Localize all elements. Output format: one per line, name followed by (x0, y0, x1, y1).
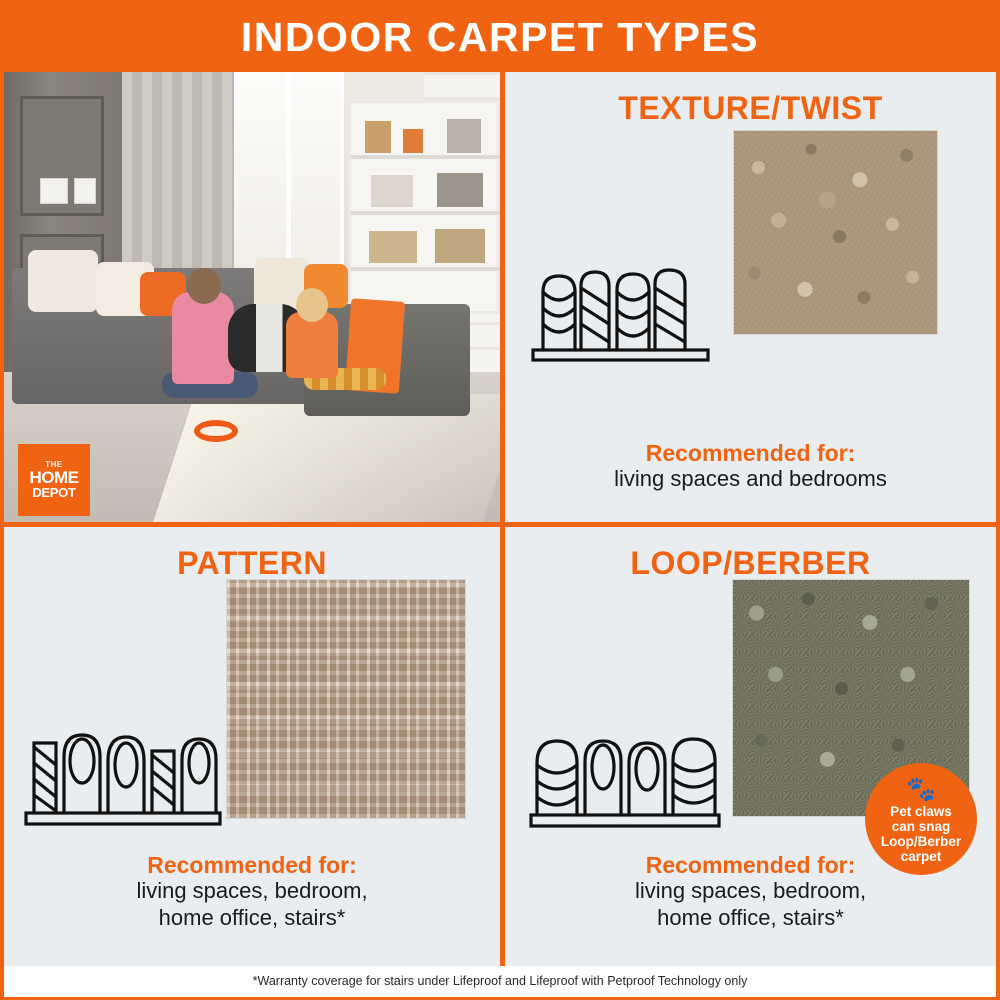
cell-loop-berber: LOOP/BERBER 🐾 Pet claws can s (500, 522, 996, 972)
photo-shelf-box (403, 129, 423, 153)
rec-label: Recommended for: (505, 852, 996, 878)
pet-badge-line: Loop/Berber (881, 834, 961, 849)
rec-text-line: home office, stairs* (505, 905, 996, 931)
photo-child-girl (172, 292, 234, 384)
pet-badge-line: Pet claws (890, 804, 952, 819)
cell-pattern: PATTERN Recommended for: (4, 522, 500, 972)
pattern-carpet-swatch (226, 579, 466, 819)
texture-twist-fiber-diagram (529, 262, 719, 372)
photo-shelf-box (365, 121, 391, 153)
home-depot-logo: THE HOME DEPOT (18, 444, 90, 516)
pet-badge-line: can snag (892, 819, 951, 834)
pattern-recommendation: Recommended for: living spaces, bedroom,… (4, 852, 500, 931)
photo-shelf-box (437, 173, 483, 207)
rec-text-line: living spaces and bedrooms (505, 466, 996, 492)
infographic-root: INDOOR CARPET TYPES (0, 0, 1000, 1000)
photo-shelf (351, 267, 500, 271)
texture-twist-recommendation: Recommended for: living spaces and bedro… (505, 440, 996, 493)
rec-text-line: home office, stairs* (4, 905, 500, 931)
loop-berber-fiber-diagram (529, 727, 724, 837)
rec-label: Recommended for: (4, 852, 500, 878)
photo-shelf-box (371, 175, 413, 207)
photo-shelf-basket (369, 231, 417, 263)
photo-window-mullion (286, 72, 291, 268)
loop-berber-recommendation: Recommended for: living spaces, bedroom,… (505, 852, 996, 931)
paw-icon: 🐾 (906, 778, 936, 802)
cell-texture-twist: TEXTURE/TWIST Recommended for: (500, 72, 996, 522)
cell-title-pattern: PATTERN (4, 545, 500, 582)
texture-twist-carpet-swatch (733, 130, 938, 335)
pattern-fiber-diagram (24, 717, 224, 837)
rec-text-line: living spaces, bedroom, (4, 878, 500, 904)
photo-child-girl-head (187, 268, 221, 304)
header-banner: INDOOR CARPET TYPES (4, 4, 996, 72)
page-title: INDOOR CARPET TYPES (241, 17, 759, 60)
photo-shelf (351, 155, 500, 159)
logo-line-depot: DEPOT (32, 486, 75, 499)
lifestyle-photo-cell: THE HOME DEPOT (4, 72, 500, 522)
cell-title-texture-twist: TEXTURE/TWIST (505, 90, 996, 127)
footnote: *Warranty coverage for stairs under Life… (4, 966, 996, 996)
photo-child-boy-head (296, 288, 328, 322)
carpet-types-grid: THE HOME DEPOT TEXTURE/TWIST (4, 72, 996, 972)
cell-title-loop-berber: LOOP/BERBER (505, 545, 996, 582)
photo-pillow (28, 250, 98, 312)
photo-shelf-box (447, 119, 481, 153)
rec-label: Recommended for: (505, 440, 996, 466)
living-room-photo: THE HOME DEPOT (4, 72, 500, 522)
photo-shelf-basket (435, 229, 485, 263)
photo-light-switch (40, 178, 68, 204)
rec-text-line: living spaces, bedroom, (505, 878, 996, 904)
photo-shelf (351, 211, 500, 215)
photo-dog-toy (194, 420, 238, 442)
logo-line-home: HOME (30, 469, 79, 486)
photo-shelf-unit (348, 100, 500, 314)
photo-outlet (74, 178, 96, 204)
